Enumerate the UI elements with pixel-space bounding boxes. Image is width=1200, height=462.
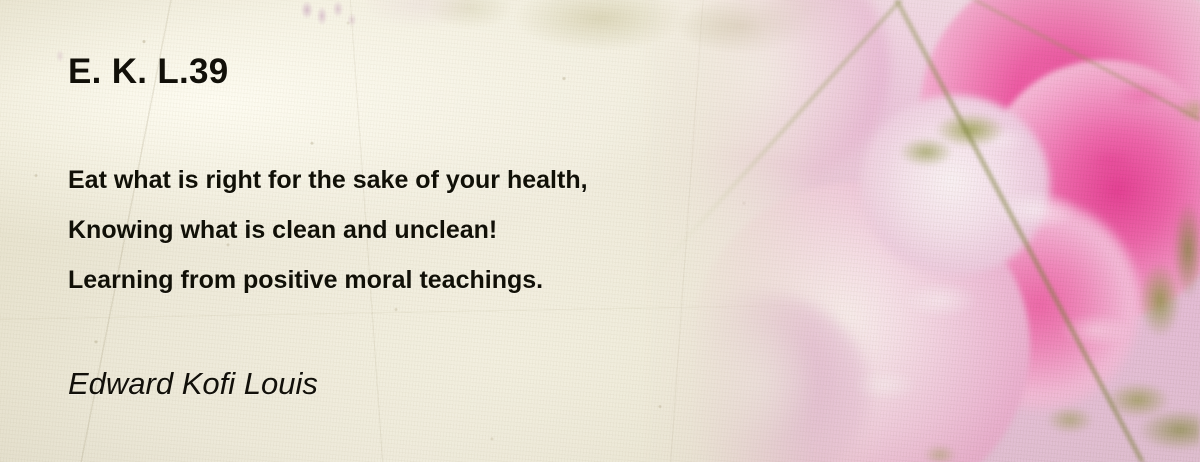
quote-image-card: E. K. L.39 Eat what is right for the sak… xyxy=(0,0,1200,462)
quote-author-signature: Edward Kofi Louis xyxy=(68,366,318,402)
quote-title: E. K. L.39 xyxy=(68,52,229,92)
quote-line-1: Eat what is right for the sake of your h… xyxy=(68,155,588,205)
quote-line-2: Knowing what is clean and unclean! xyxy=(68,205,588,255)
quote-line-3: Learning from positive moral teachings. xyxy=(68,255,588,305)
quote-body: Eat what is right for the sake of your h… xyxy=(68,155,588,305)
text-layer: E. K. L.39 Eat what is right for the sak… xyxy=(0,0,1200,462)
